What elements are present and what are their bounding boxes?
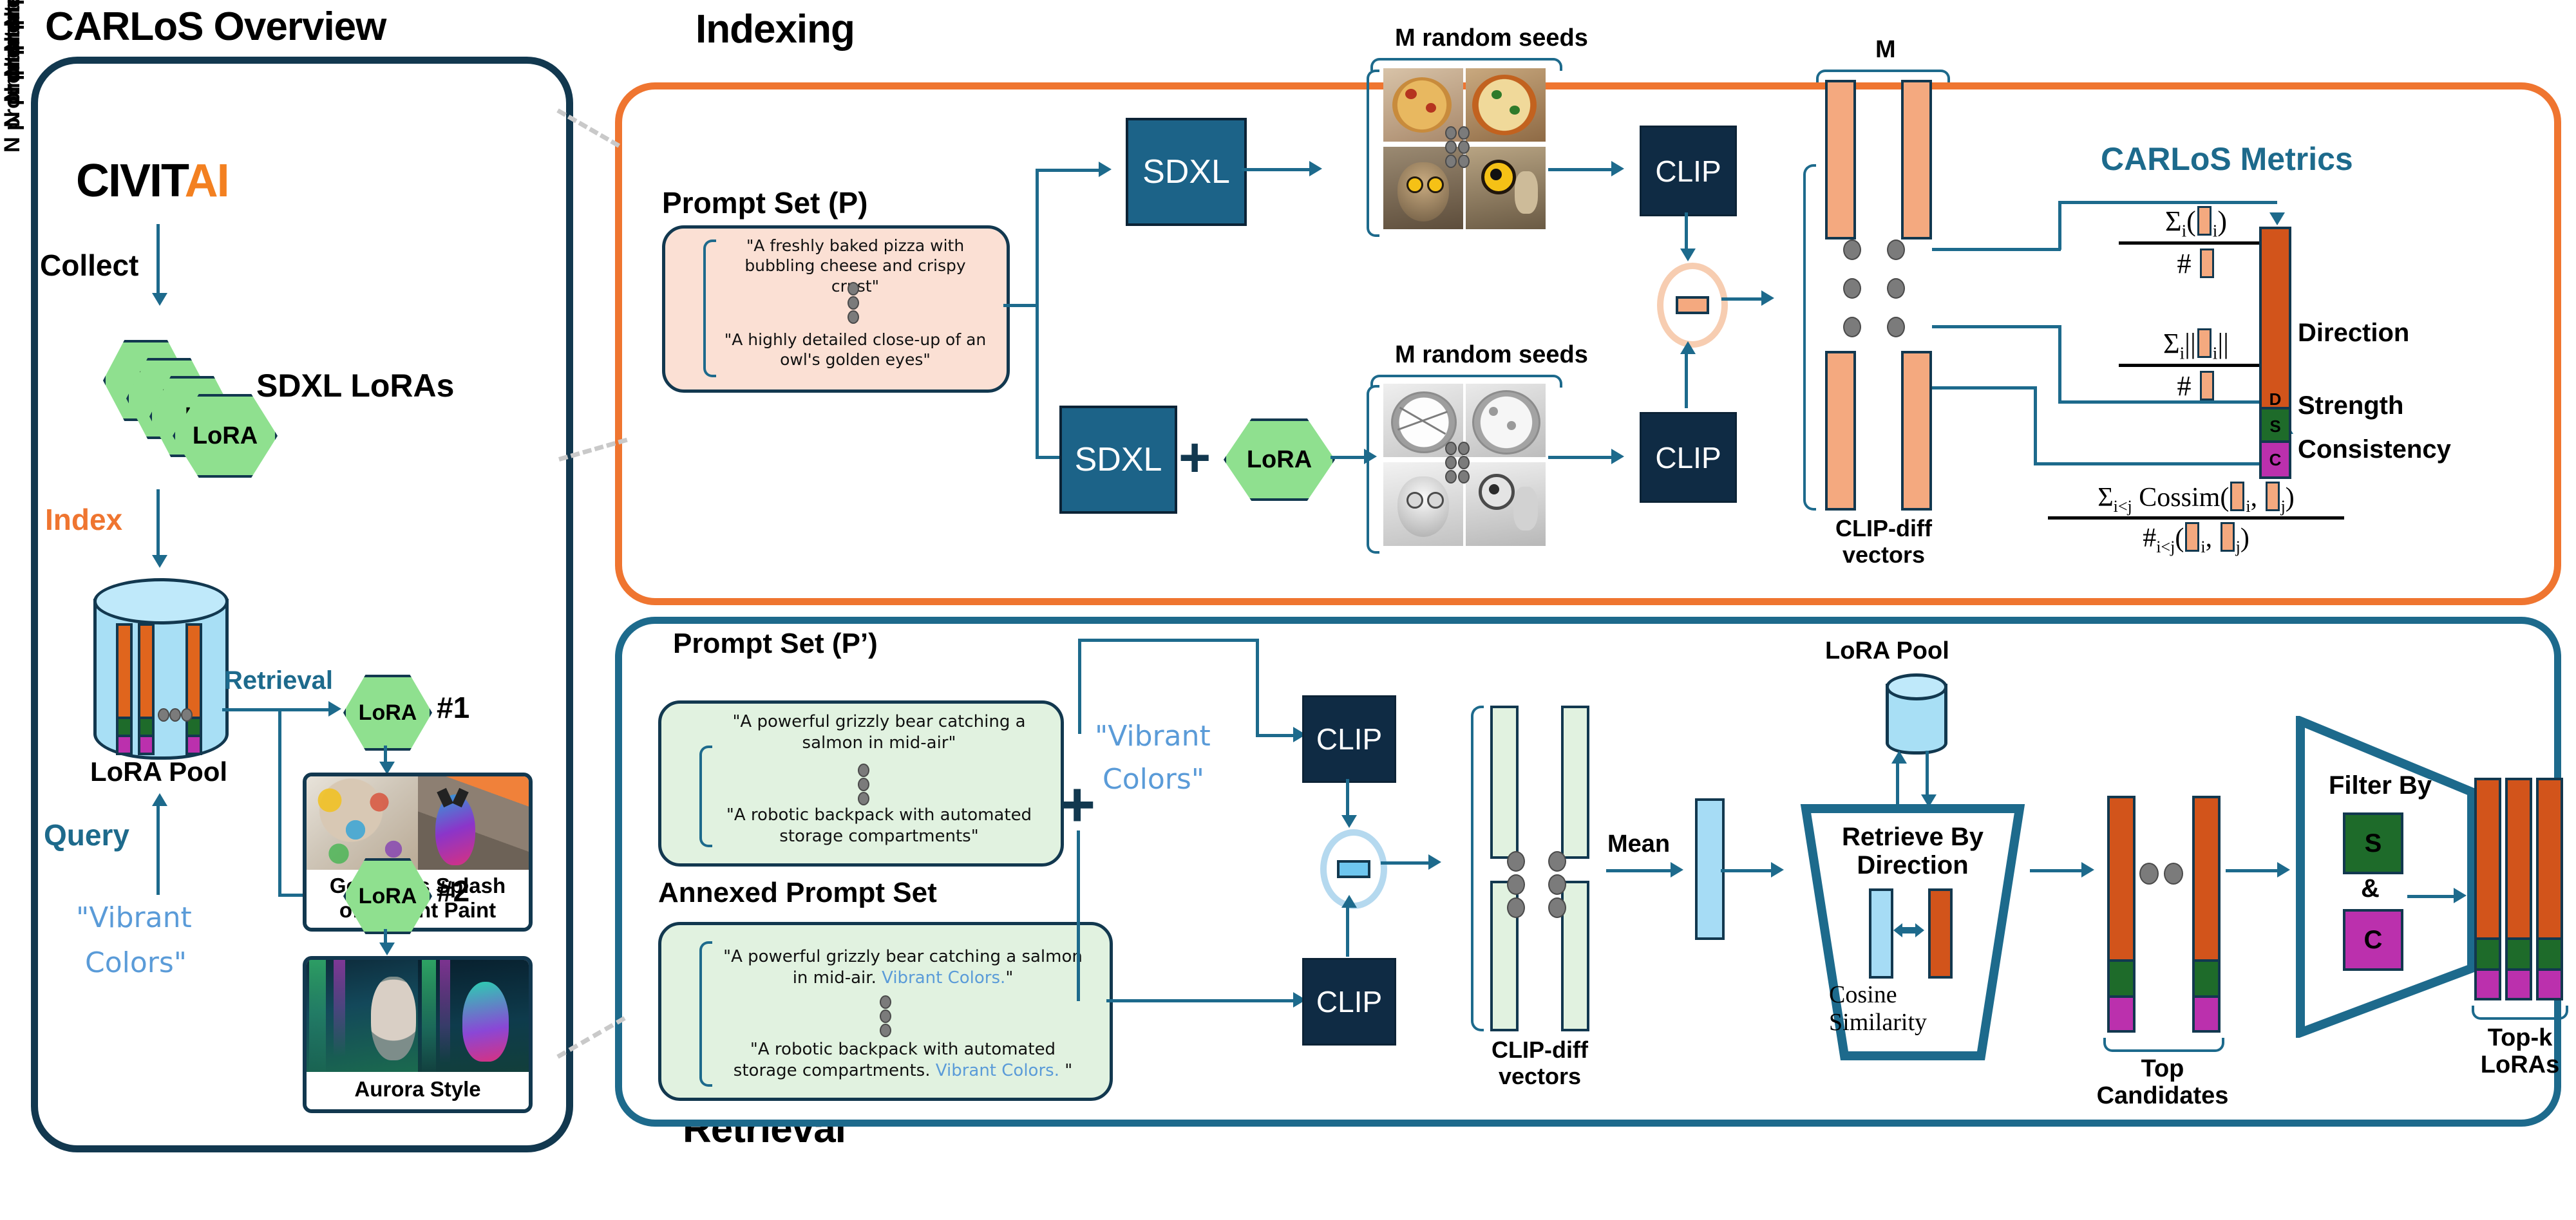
index-arrow-line (156, 489, 160, 559)
lora-result-2-label: LoRA (359, 884, 417, 909)
retrieval-n-prompts-brace (699, 746, 712, 847)
m-random-seeds-bottom-label: M random seeds (1395, 341, 1588, 369)
lora-pool-label: LoRA Pool (90, 756, 227, 787)
pool-bar-3-magenta (185, 735, 202, 755)
topk-loras-label: Top-k LoRAs (2459, 1025, 2576, 1079)
annexed-prompt-2-tail: " (1059, 1061, 1072, 1080)
top-candidate-bar-2-magenta (2192, 995, 2221, 1033)
topk-bar-1 (2474, 778, 2501, 943)
indexing-sdxl1-arrow (1099, 162, 1112, 177)
topk-bar-3-magenta (2536, 968, 2563, 1000)
retrieval-subtract-glyph (1337, 860, 1370, 878)
indexing-clipdiff-label-l2: vectors (1816, 541, 1951, 568)
collect-label: Collect (40, 248, 138, 283)
formula-consistency-den: #i<j(i, j) (2048, 516, 2344, 557)
indexing-clipdiff-bar-3 (1825, 351, 1856, 511)
metric-link-3v (2034, 386, 2037, 465)
pool-bar-2-magenta (138, 735, 155, 755)
indexing-prompt-set-title: Prompt Set (P) (662, 185, 867, 220)
annexed-prompt-1-tail: " (1005, 968, 1013, 988)
metric-link-1v (2058, 201, 2061, 250)
topk-loras-l2: LoRAs (2459, 1052, 2576, 1079)
retrieve-by-direction-label: Retrieve By Direction (1816, 823, 2009, 879)
sdxl-top-out-arrow (1309, 161, 1322, 176)
query-arrow-head (152, 793, 167, 806)
pool-ellipsis-dot-3 (181, 708, 193, 722)
retrieval-clipdiff-label: CLIP-diff vectors (1472, 1037, 1607, 1090)
topk-bar-1-magenta (2474, 968, 2501, 1000)
annexed-prompt-set-title: Annexed Prompt Set (658, 877, 937, 909)
retrieval-op-out-line (1381, 861, 1431, 865)
indexing-n-prompts-brace (703, 239, 716, 377)
indexing-img-top-brace (1367, 70, 1379, 237)
indexing-clipdiff-bar-2 (1901, 80, 1932, 239)
mean-arrow-head (1671, 862, 1683, 877)
mean-arrow-line (1606, 869, 1673, 872)
img-top-to-clip-arrow (1611, 161, 1624, 176)
index-label: Index (45, 502, 122, 537)
metric-link-3h (2034, 462, 2285, 465)
retrieval-clipdiff-dot-3 (1507, 874, 1525, 895)
top-candidate-dot-1 (2139, 863, 2159, 885)
indexing-split-v-down (1036, 304, 1039, 458)
query-arrow-line (156, 805, 160, 895)
indexing-top-grid-dot-3 (1445, 140, 1457, 154)
indexing-clipdiff-dot-4 (1887, 278, 1905, 299)
annexed-prompt-dot-3 (880, 1024, 891, 1037)
topk-loras-l1: Top-k (2459, 1025, 2576, 1052)
metric-swatch-direction: D (2259, 227, 2291, 416)
annexed-prompt-dot-2 (880, 1009, 891, 1023)
formula-strength: Σi||i|| # (2119, 327, 2273, 402)
indexing-bottom-grid-dot-3 (1445, 456, 1457, 469)
indexing-prompt-2: "A highly detailed close-up of an owl's … (720, 330, 990, 370)
pool-up-line (1896, 760, 1899, 806)
retrieval-prompt-dot-2 (858, 778, 869, 791)
indexing-lora-hex-label: LoRA (1247, 446, 1312, 474)
pool-up-arrow (1891, 751, 1907, 764)
top-candidate-bar-1-green (2107, 959, 2136, 1000)
retrieve-by-direction-l1: Retrieve By (1816, 823, 2009, 851)
clip-box-retrieval-bottom: CLIP (1302, 958, 1396, 1046)
image-pizza-gray-2 (1466, 384, 1546, 457)
clip-box-indexing-top-label: CLIP (1655, 154, 1721, 189)
lora-pool-cylinder-top (93, 578, 229, 624)
top-candidate-bar-2 (2192, 796, 2221, 964)
top-candidates-label: Top Candidates (2092, 1056, 2233, 1110)
retrieval-op-out-arrow (1428, 854, 1441, 870)
sdxl-bottom-out-line (1331, 456, 1368, 459)
clip-box-indexing-bottom-label: CLIP (1655, 440, 1721, 475)
sdxl-box-bottom-label: SDXL (1075, 440, 1162, 479)
filter-by-trapezoid (2294, 716, 2481, 1038)
pool-bar-1-magenta (116, 735, 133, 755)
retrieval-clip-top-to-op-arrow (1341, 815, 1357, 828)
img-bottom-to-clip-line (1548, 456, 1614, 459)
query-text-line1: "Vibrant (76, 901, 192, 934)
page-title-indexing: Indexing (696, 6, 855, 52)
formula-direction-num: Σi(i) (2119, 205, 2273, 241)
lora-result-1-rank: #1 (437, 690, 469, 725)
retrieve-compare-bar-query (1869, 888, 1893, 979)
top-candidate-bar-2-green (2192, 959, 2221, 1000)
indexing-bottom-grid-dot-1 (1445, 442, 1457, 455)
civitai-logo: CIVITAI (76, 155, 229, 207)
annexed-prompt-2-highlight: Vibrant Colors. (936, 1061, 1059, 1080)
retrieval-arrow-line (222, 708, 332, 711)
collect-arrow-line (156, 224, 160, 296)
indexing-clipdiff-bar-1 (1825, 80, 1856, 239)
img-top-to-clip-line (1548, 168, 1614, 171)
pool-down-line (1926, 751, 1929, 797)
pool-bar-1 (116, 623, 133, 722)
retrieval-arrow-head (328, 701, 341, 717)
indexing-clipdiff-dot-3 (1843, 278, 1861, 299)
filter-swatch-consistency-label: C (2364, 926, 2383, 955)
topk-bar-2-magenta (2505, 968, 2532, 1000)
plus-stem-line (1077, 831, 1080, 1001)
indexing-top-grid-dot-6 (1458, 155, 1470, 168)
civitai-logo-ai: AI (185, 155, 229, 207)
metric-swatch-strength-label: S (2269, 417, 2280, 436)
top-candidate-bar-1 (2107, 796, 2136, 964)
indexing-prompt-dot-2 (848, 296, 859, 310)
clip-box-indexing-top: CLIP (1640, 126, 1737, 216)
annexed-prompt-dot-1 (880, 995, 891, 1009)
image-owl-2 (1466, 147, 1546, 229)
retrieval-lora-pool-label: LoRA Pool (1825, 637, 1949, 665)
op-out-arrow (1761, 290, 1774, 306)
sdxl-box-top-label: SDXL (1142, 153, 1230, 191)
annexed-prompt-1: "A powerful grizzly bear catching a salm… (716, 946, 1090, 988)
retrieval-clipdiff-bar-1 (1490, 706, 1519, 859)
topk-brace (2472, 1006, 2568, 1020)
filter-out-line (2407, 895, 2456, 898)
op-to-clip-bottom-line (1685, 353, 1688, 408)
lora-result-2-rank: #2 (437, 874, 469, 908)
retrieval-clip-top-to-op (1346, 779, 1349, 818)
retrieval-op-to-clip-bottom (1346, 906, 1349, 957)
top-candidates-l1: Top (2092, 1056, 2233, 1083)
annexed-n-prompts-brace (699, 941, 712, 1087)
retrieval-clipdiff-label-l2: vectors (1472, 1063, 1607, 1089)
retrieval-prompt-dot-3 (858, 792, 869, 805)
carlos-metrics-title: CARLoS Metrics (2101, 140, 2353, 178)
filter-swatch-consistency: C (2343, 909, 2403, 971)
top-candidates-l2: Candidates (2092, 1083, 2233, 1110)
retrieve-compare-bar-lora (1928, 888, 1953, 979)
retrieval-query-line2: Colors" (1103, 763, 1204, 796)
candidates-out-arrow (2277, 862, 2290, 877)
double-arrow-icon (1891, 919, 1927, 941)
indexing-split-h (1003, 304, 1037, 307)
metric-link-2v (2058, 325, 2061, 404)
indexing-bottom-grid-dot-2 (1458, 442, 1470, 455)
collect-arrow-head (152, 293, 167, 306)
pprime-up-line (1078, 639, 1081, 734)
candidates-out-line (2226, 869, 2280, 872)
mean-out-line (1721, 869, 1774, 872)
retrieval-clipdiff-dot-6 (1548, 897, 1566, 918)
filter-swatch-strength-label: S (2365, 829, 2382, 858)
lora-hex-4-label: LoRA (193, 422, 258, 450)
retrieval-pool-top (1886, 673, 1947, 700)
filter-out-arrow (2454, 888, 2467, 903)
retrieval-clipdiff-label-l1: CLIP-diff (1472, 1037, 1607, 1063)
retrieval-op-to-clip-bottom-arrow (1341, 895, 1357, 908)
formula-consistency-num: Σi<j Cossim(i, j) (2048, 482, 2344, 516)
img-bottom-to-clip-arrow (1611, 449, 1624, 464)
clip-box-indexing-bottom: CLIP (1640, 412, 1737, 503)
formula-direction-den: # (2119, 241, 2273, 280)
annexed-prompt-2: "A robotic backpack with automated stora… (716, 1039, 1090, 1081)
metric-link-3 (1932, 386, 2036, 389)
result-card-2-caption: Aurora Style (307, 1072, 529, 1109)
retrieval-clipdiff-n-prompts: N prompts (0, 0, 25, 153)
formula-direction: Σi(i) # (2119, 205, 2273, 280)
indexing-bottom-grid-dot-4 (1458, 456, 1470, 469)
image-pizza-2 (1466, 68, 1546, 142)
indexing-bottom-grid-dot-6 (1458, 470, 1470, 483)
indexing-clipdiff-dot-1 (1843, 239, 1861, 260)
indexing-img-bottom-brace (1367, 385, 1379, 554)
annexed-out-line (1106, 999, 1296, 1002)
filter-and-label: & (2361, 874, 2380, 903)
pool-bar-2 (138, 623, 155, 722)
filter-swatch-strength: S (2343, 812, 2403, 874)
retrieval-plus-sign: + (1059, 773, 1095, 836)
indexing-split-v-up (1036, 169, 1039, 305)
pool-ellipsis-dot-2 (169, 708, 181, 722)
retrieval-clipdiff-bar-2 (1561, 706, 1589, 859)
lora2-down-arrow (379, 943, 395, 955)
sdxl-box-bottom: SDXL (1059, 406, 1177, 514)
retrieval-clipdiff-dot-2 (1548, 851, 1566, 872)
clip-top-to-op-line (1685, 212, 1688, 251)
sdxl-lora-plus-sign: + (1179, 430, 1211, 485)
page-title-overview: CARLoS Overview (45, 4, 386, 50)
clip-box-retrieval-top: CLIP (1302, 695, 1396, 783)
metric-label-direction: Direction (2298, 319, 2409, 348)
mean-out-arrow (1771, 862, 1784, 877)
query-text-line2: Colors" (85, 946, 187, 979)
index-arrow-head (152, 555, 167, 568)
metric-link-2 (1932, 325, 2061, 328)
clip-top-to-op-arrow (1680, 249, 1696, 261)
retrieval-clipdiff-dot-5 (1507, 897, 1525, 918)
top-candidate-dot-2 (2164, 863, 2183, 885)
formula-consistency: Σi<j Cossim(i, j) #i<j(i, j) (2048, 482, 2344, 557)
clip-box-retrieval-top-label: CLIP (1316, 722, 1382, 756)
clip-box-retrieval-bottom-label: CLIP (1316, 984, 1382, 1019)
retrieval-query-line1: "Vibrant (1095, 720, 1211, 753)
indexing-clipdiff-dot-6 (1887, 317, 1905, 337)
metric-label-strength: Strength (2298, 391, 2403, 420)
topk-bar-2 (2505, 778, 2532, 943)
metric-swatch-consistency: C (2259, 440, 2291, 479)
sdxl-box-top: SDXL (1126, 118, 1247, 226)
retrieval-label: Retrieval (224, 666, 333, 695)
metric-swatch-consistency-label: C (2269, 450, 2282, 470)
metric-link-1h (2058, 201, 2277, 204)
pprime-into-clip (1256, 734, 1296, 737)
indexing-top-grid-dot-1 (1445, 126, 1457, 140)
annexed-prompt-1-highlight: Vibrant Colors. (882, 968, 1005, 988)
retrieve-by-direction-l2: Direction (1816, 851, 2009, 879)
formula-strength-num: Σi||i|| (2119, 327, 2273, 364)
indexing-prompt-dot-3 (848, 310, 859, 324)
sdxl-top-out-line (1242, 168, 1312, 171)
query-label: Query (44, 818, 129, 852)
lora-result-1-label: LoRA (359, 700, 417, 726)
civitai-logo-civit: CIVIT (76, 155, 185, 207)
op-to-clip-bottom-arrow (1680, 341, 1696, 354)
sdxl-loras-label: SDXL LoRAs (256, 367, 454, 404)
indexing-clipdiff-bar-4 (1901, 351, 1932, 511)
mean-label: Mean (1607, 831, 1670, 858)
filter-by-label: Filter By (2329, 771, 2432, 800)
top-candidates-brace (2103, 1038, 2224, 1052)
retrieval-branch-vline (278, 708, 281, 895)
metric-swatch-strength: S (2259, 407, 2291, 446)
indexing-clipdiff-label: CLIP-diff vectors (1816, 515, 1951, 568)
metric-label-consistency: Consistency (2298, 435, 2451, 464)
indexing-clipdiff-nbrace (1803, 164, 1816, 511)
indexing-m-brace-label: M (1875, 36, 1896, 64)
indexing-clipdiff-dot-5 (1843, 317, 1861, 337)
retrieval-clipdiff-nbrace (1471, 706, 1484, 1031)
pprime-down-to-clip (1256, 639, 1259, 737)
pprime-top-line (1078, 639, 1258, 642)
indexing-top-grid-dot-2 (1458, 126, 1470, 140)
retrieve-out-line (2030, 869, 2084, 872)
indexing-clipdiff-label-l1: CLIP-diff (1816, 515, 1951, 541)
retrieval-prompt-set-title: Prompt Set (P’) (673, 628, 878, 660)
pool-ellipsis-dot-1 (158, 708, 169, 722)
indexing-subtract-glyph (1676, 296, 1709, 314)
indexing-split-to-sdxl1 (1036, 169, 1101, 172)
topk-bar-3 (2536, 778, 2563, 943)
retrieve-out-arrow (2081, 862, 2094, 877)
cosine-similarity-label: Cosine Similarity (1829, 981, 1996, 1036)
op-out-line (1721, 297, 1764, 301)
image-owl-gray-2 (1466, 462, 1546, 546)
metric-link-1 (1932, 248, 2061, 251)
formula-strength-den: # (2119, 364, 2273, 402)
m-random-seeds-top-label: M random seeds (1395, 24, 1588, 52)
retrieval-prompt-dot-1 (858, 764, 869, 777)
cosine-similarity-l2: Similarity (1829, 1009, 1996, 1037)
retrieval-clipdiff-dot-1 (1507, 851, 1525, 872)
retrieval-prompt-1: "A powerful grizzly bear catching a salm… (715, 711, 1043, 753)
indexing-subtract-operator (1657, 263, 1728, 348)
retrieval-prompt-2: "A robotic backpack with automated stora… (715, 805, 1043, 847)
indexing-prompt-dot-1 (848, 282, 859, 296)
result-card-2: Aurora Style (303, 956, 533, 1113)
indexing-top-grid-dot-4 (1458, 140, 1470, 154)
indexing-bottom-grid-dot-5 (1445, 470, 1457, 483)
indexing-top-grid-dot-5 (1445, 155, 1457, 168)
top-candidate-bar-1-magenta (2107, 995, 2136, 1033)
indexing-clipdiff-dot-2 (1887, 239, 1905, 260)
cosine-similarity-l1: Cosine (1829, 981, 1996, 1009)
retrieval-clipdiff-dot-4 (1548, 874, 1566, 895)
pool-bar-3 (185, 623, 202, 722)
